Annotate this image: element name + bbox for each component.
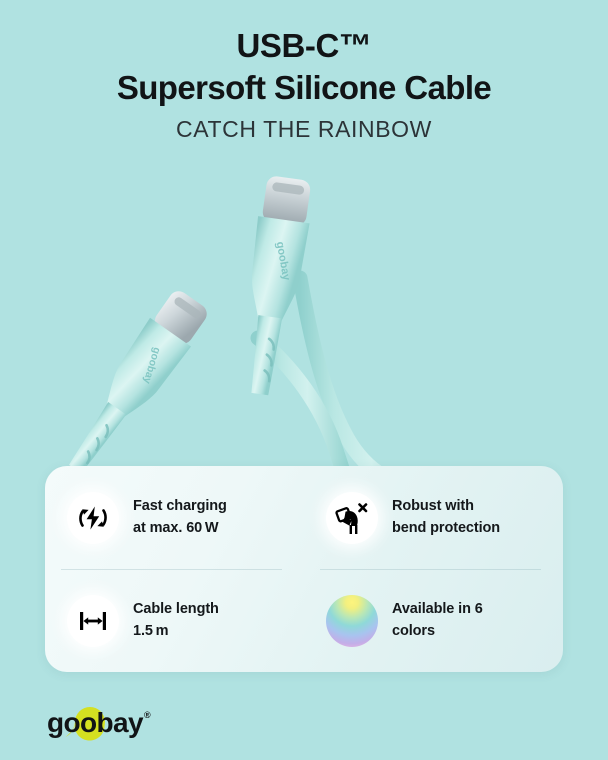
product-marketing-image: USB-C™ Supersoft Silicone Cable CATCH TH… — [0, 0, 608, 760]
color-variants-icon — [326, 595, 378, 647]
feature-line-1: Robust with — [392, 498, 474, 514]
header: USB-C™ Supersoft Silicone Cable CATCH TH… — [0, 0, 608, 143]
goobay-trademark: ® — [144, 710, 151, 720]
feature-line-2: 1.5 m — [133, 621, 219, 642]
page-title-line-2: Supersoft Silicone Cable — [0, 68, 608, 108]
goobay-wordmark: goobay — [47, 707, 144, 738]
fast-charging-icon — [67, 492, 119, 544]
feature-item-fast-charging: Fast charging at max. 60 W — [45, 466, 304, 569]
feature-item-cable-length: Cable length 1.5 m — [45, 569, 304, 672]
feature-label-cable-length: Cable length 1.5 m — [133, 599, 219, 641]
feature-item-color-variants: Available in 6 colors — [304, 569, 563, 672]
feature-label-fast-charging: Fast charging at max. 60 W — [133, 496, 227, 538]
feature-line-2: at max. 60 W — [133, 518, 227, 539]
page-subtitle: CATCH THE RAINBOW — [0, 116, 608, 143]
cable-length-icon — [67, 595, 119, 647]
feature-line-1: Cable length — [133, 601, 219, 617]
feature-panel: Fast charging at max. 60 W — [45, 466, 563, 672]
page-title-line-1: USB-C™ — [0, 26, 608, 66]
goobay-logo: goobay ® — [45, 703, 155, 743]
cable-strand-upper — [300, 278, 430, 490]
feature-line-2: colors — [392, 621, 483, 642]
product-image: goobay goobay — [0, 160, 608, 490]
feature-item-bend-protection: Robust with bend protection — [304, 466, 563, 569]
feature-line-1: Available in 6 — [392, 601, 483, 617]
feature-label-color-variants: Available in 6 colors — [392, 599, 483, 641]
usb-c-connector-lower: goobay — [54, 285, 214, 483]
feature-grid: Fast charging at max. 60 W — [45, 466, 563, 672]
feature-label-bend-protection: Robust with bend protection — [392, 496, 500, 538]
feature-line-1: Fast charging — [133, 498, 227, 514]
bend-protection-icon — [326, 492, 378, 544]
feature-line-2: bend protection — [392, 518, 500, 539]
